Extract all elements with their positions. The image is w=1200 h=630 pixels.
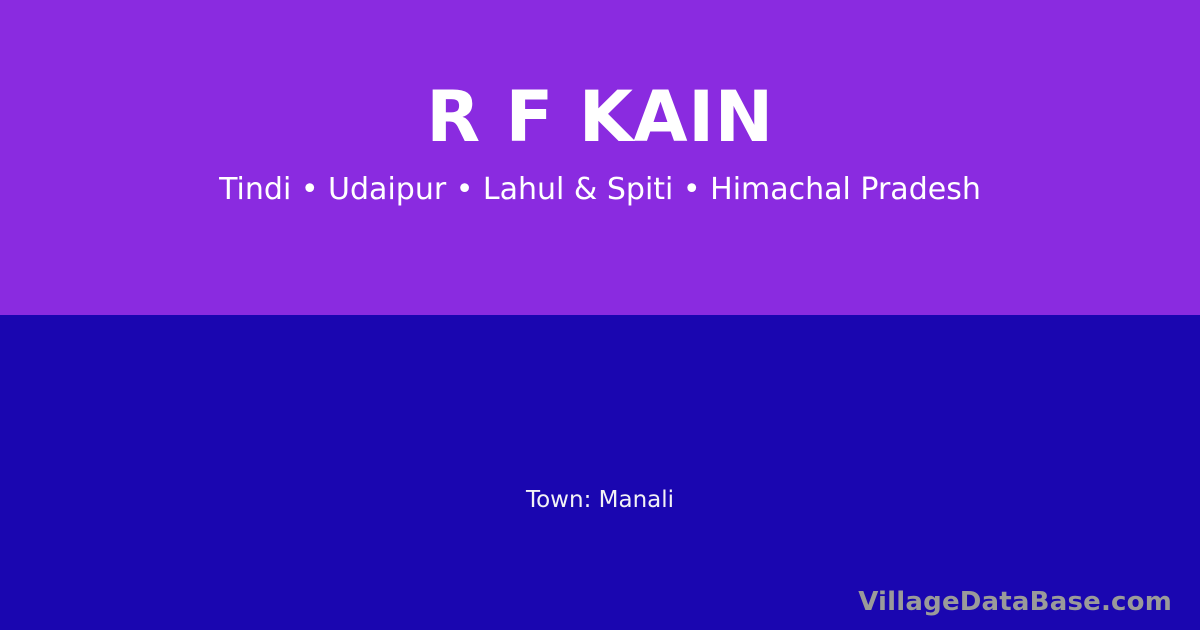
village-info-card: R F KAIN Tindi • Udaipur • Lahul & Spiti… — [0, 0, 1200, 630]
body-band: Town: Manali VillageDataBase.com — [0, 315, 1200, 630]
town-detail: Town: Manali — [0, 487, 1200, 515]
page-title: R F KAIN — [426, 82, 774, 152]
header-band: R F KAIN Tindi • Udaipur • Lahul & Spiti… — [0, 0, 1200, 315]
site-watermark: VillageDataBase.com — [858, 587, 1172, 618]
breadcrumb: Tindi • Udaipur • Lahul & Spiti • Himach… — [219, 173, 981, 208]
